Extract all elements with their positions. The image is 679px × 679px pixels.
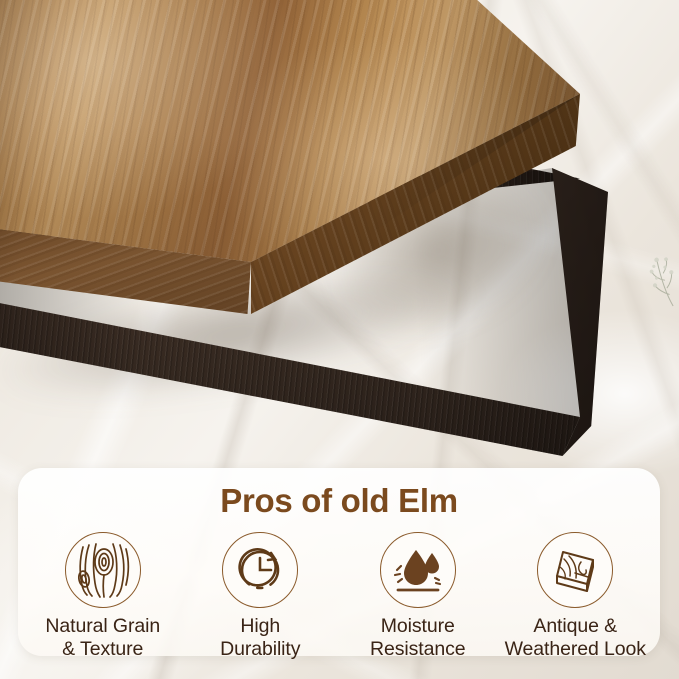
pros-card: Pros of old Elm [18, 468, 660, 656]
feature-high-durability[interactable]: High Durability [182, 532, 340, 660]
clock-arrow-icon [222, 532, 298, 608]
feature-label: Moisture Resistance [370, 615, 465, 660]
light-walnut-board [0, 0, 580, 326]
feature-list: Natural Grain & Texture High [24, 532, 654, 660]
feature-natural-grain[interactable]: Natural Grain & Texture [24, 532, 182, 660]
card-title: Pros of old Elm [18, 482, 660, 520]
feature-antique-weathered[interactable]: Antique & Weathered Look [497, 532, 655, 660]
feature-label: Antique & Weathered Look [505, 615, 646, 660]
feature-label: Natural Grain & Texture [45, 615, 160, 660]
wood-plank-icon [537, 532, 613, 608]
feature-moisture-resistance[interactable]: Moisture Resistance [339, 532, 497, 660]
wood-grain-icon [65, 532, 141, 608]
feature-label: High Durability [220, 615, 300, 660]
water-droplet-icon [380, 532, 456, 608]
product-infographic: Pros of old Elm [0, 0, 679, 679]
